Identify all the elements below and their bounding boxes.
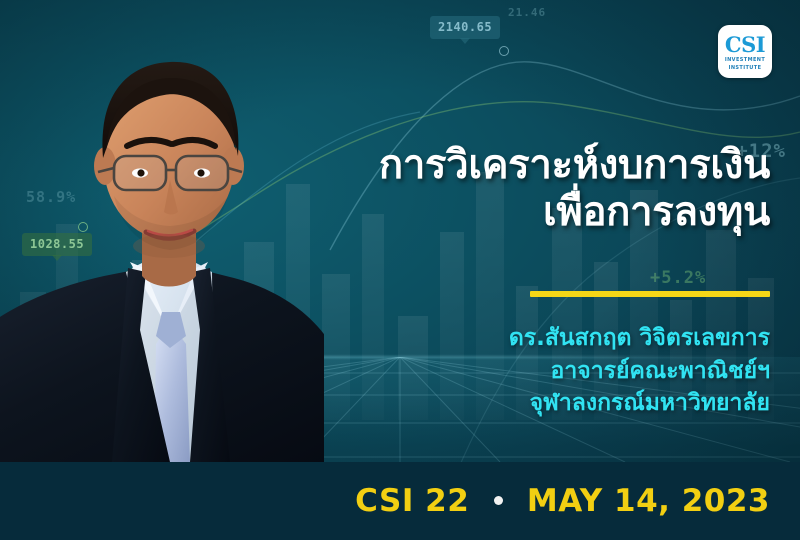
yellow-divider	[530, 291, 770, 297]
speaker-affiliation: จุฬาลงกรณ์มหาวิทยาลัย	[300, 387, 770, 420]
event-date: MAY 14, 2023	[527, 483, 770, 519]
logo-brand-text: CSI	[725, 34, 765, 55]
title-line-1: การวิเคราะห์งบการเงิน	[379, 142, 770, 188]
footer-meta: CSI 22 MAY 14, 2023	[355, 483, 770, 519]
csi-logo[interactable]: CSI INVESTMENT INSTITUTE	[718, 25, 772, 78]
speaker-role: อาจารย์คณะพาณิชย์ฯ	[300, 355, 770, 388]
tooltip-chip-top: 2140.65	[430, 16, 500, 39]
page-title: การวิเคราะห์งบการเงิน เพื่อการลงทุน	[300, 142, 770, 236]
logo-subtitle-line-1: INVESTMENT	[725, 57, 765, 65]
bg-label-value-top: 21.46	[508, 6, 546, 19]
bg-label-percent-green: +5.2%	[650, 268, 706, 288]
speaker-portrait	[0, 0, 324, 462]
bullet-separator-icon	[494, 496, 503, 505]
title-line-2: เพื่อการลงทุน	[300, 189, 770, 236]
footer-bar: CSI 22 MAY 14, 2023	[0, 462, 800, 540]
speaker-name: ดร.สันสกฤต วิจิตรเลขการ	[300, 322, 770, 355]
data-point-marker-top	[499, 46, 509, 56]
logo-subtitle-line-2: INSTITUTE	[729, 65, 762, 71]
seminar-banner: 2140.65 1028.55 +12% +5.2% 58.9% 21.46 3…	[0, 0, 800, 540]
course-code: CSI 22	[355, 483, 469, 519]
speaker-info: ดร.สันสกฤต วิจิตรเลขการ อาจารย์คณะพาณิชย…	[300, 322, 770, 420]
